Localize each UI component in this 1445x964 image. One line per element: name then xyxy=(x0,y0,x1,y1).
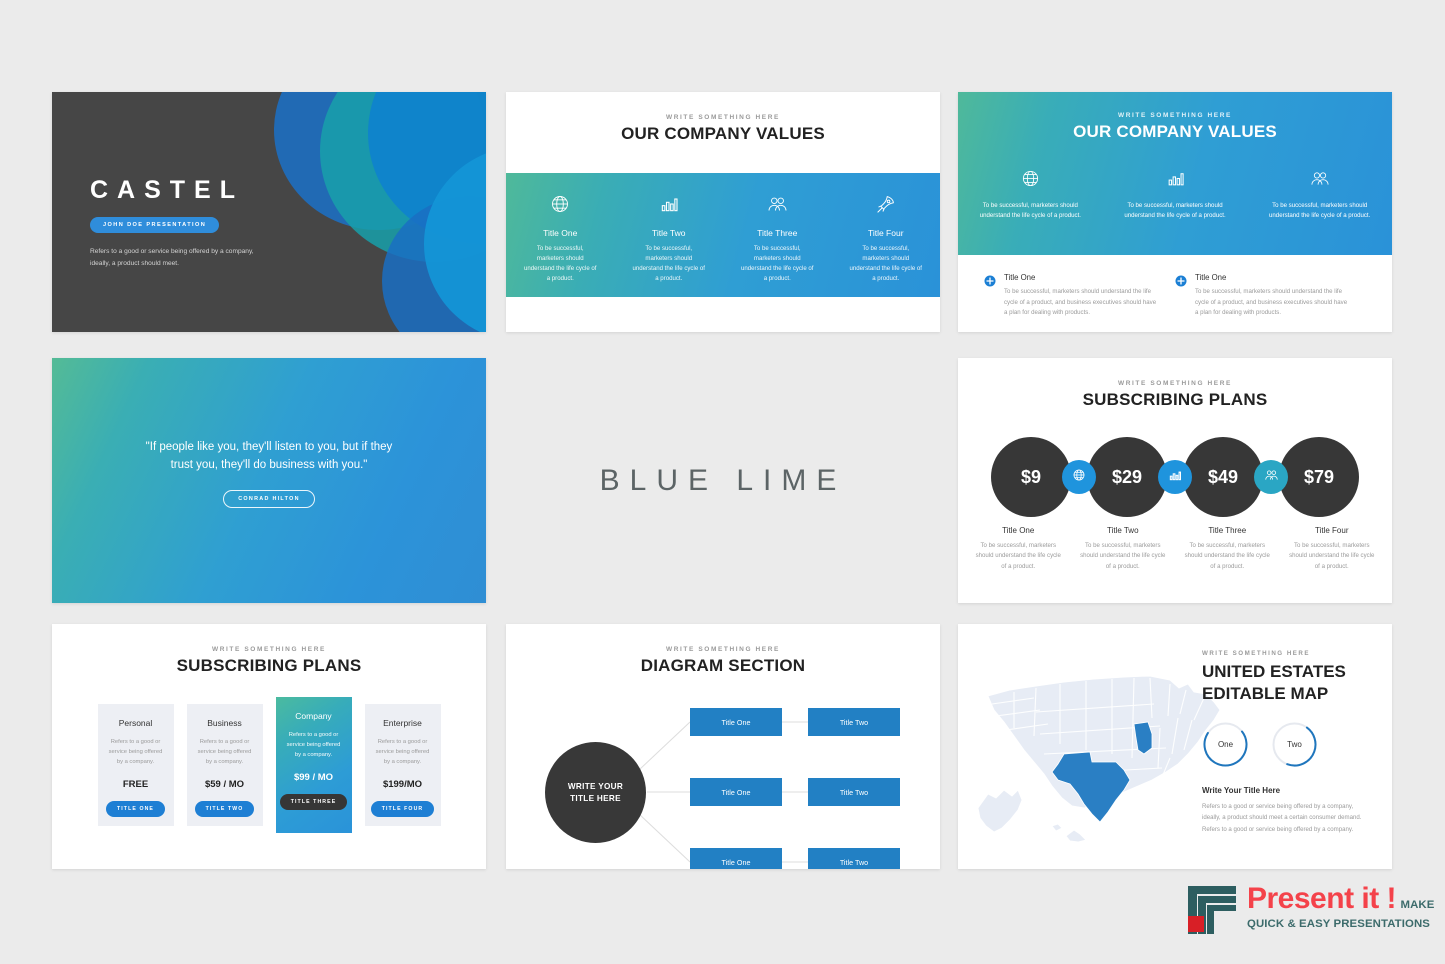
plan-price: $199/MO xyxy=(365,779,441,790)
plan-label-3: Title Three To be successful, marketers … xyxy=(1175,526,1280,572)
diagram-box-row3-left[interactable]: Title One xyxy=(690,848,782,869)
value-desc: To be successful, marketers should under… xyxy=(1261,201,1378,222)
bar-chart-icon xyxy=(615,191,724,217)
connector-users[interactable] xyxy=(1254,460,1288,494)
plan-title: Title Three xyxy=(1183,526,1272,535)
logo-name: Present it ! xyxy=(1247,882,1396,915)
slide-quote[interactable]: "If people like you, they'll listen to y… xyxy=(52,358,486,603)
plan-desc: Refers to a good or service being offere… xyxy=(276,730,352,760)
globe-icon xyxy=(1072,468,1086,487)
value-desc: To be successful, marketers should under… xyxy=(972,201,1089,222)
page-title: SUBSCRIBING PLANS xyxy=(958,390,1392,410)
slide-title[interactable]: CASTEL JOHN DOE PRESENTATION Refers to a… xyxy=(52,92,486,332)
plan-title: Title One xyxy=(974,526,1063,535)
users-icon xyxy=(1261,166,1378,190)
bar-chart-icon xyxy=(1117,166,1234,190)
plans-circle-labels: Title One To be successful, marketers sh… xyxy=(958,526,1392,572)
diagram-box-row2-right[interactable]: Title Two xyxy=(808,778,900,806)
page-title: SUBSCRIBING PLANS xyxy=(52,656,486,676)
title-slide-content: CASTEL JOHN DOE PRESENTATION Refers to a… xyxy=(90,176,262,269)
eyebrow-text: WRITE SOMETHING HERE xyxy=(1202,650,1372,657)
users-icon xyxy=(1264,468,1279,487)
diagram-box-row1-left[interactable]: Title One xyxy=(690,708,782,736)
presenter-badge[interactable]: JOHN DOE PRESENTATION xyxy=(90,217,219,233)
value-column-1[interactable]: To be successful, marketers should under… xyxy=(958,166,1103,222)
plan-price: $59 / MO xyxy=(187,779,263,790)
value-desc: To be successful, marketers should under… xyxy=(615,244,724,284)
plan-price: $99 / MO xyxy=(276,772,352,783)
plan-cta-button[interactable]: TITLE THREE xyxy=(280,794,348,810)
value-column-1[interactable]: Title One To be successful, marketers sh… xyxy=(506,173,615,297)
plus-circle-icon xyxy=(1175,274,1187,332)
plan-title: Title Two xyxy=(1079,526,1168,535)
plan-name: Company xyxy=(276,711,352,721)
stat-ring-label: One xyxy=(1218,740,1233,749)
diagram-box-row3-right[interactable]: Title Two xyxy=(808,848,900,869)
item-title: Title One xyxy=(1004,273,1159,282)
stat-ring-two[interactable]: Two xyxy=(1271,721,1318,768)
rocket-icon xyxy=(832,191,941,217)
slide-brand-word[interactable]: BLUE LIME xyxy=(506,358,940,603)
map-title-line-1: UNITED ESTATES xyxy=(1202,661,1372,683)
item-desc: To be successful, marketers should under… xyxy=(1004,287,1159,319)
value-column-3[interactable]: Title Three To be successful, marketers … xyxy=(723,173,832,297)
logo-text: Present it ! MAKE QUICK & EASY PRESENTAT… xyxy=(1247,884,1445,932)
slide-subscribing-plans-cards[interactable]: WRITE SOMETHING HERE SUBSCRIBING PLANS P… xyxy=(52,624,486,869)
us-map[interactable] xyxy=(974,658,1224,843)
slide-us-map[interactable]: WRITE SOMETHING HERE UNITED ESTATES EDIT… xyxy=(958,624,1392,869)
brand-name: CASTEL xyxy=(90,176,262,205)
users-icon xyxy=(723,191,832,217)
plan-desc: To be successful, marketers should under… xyxy=(1183,541,1272,572)
value-desc: To be successful, marketers should under… xyxy=(506,244,615,284)
stat-ring-label: Two xyxy=(1287,740,1302,749)
plans-circles-header: WRITE SOMETHING HERE SUBSCRIBING PLANS xyxy=(958,358,1392,410)
brand-wordmark: BLUE LIME xyxy=(600,464,847,498)
connector-globe[interactable] xyxy=(1062,460,1096,494)
plan-desc: Refers to a good or service being offere… xyxy=(98,737,174,767)
stat-ring-one[interactable]: One xyxy=(1202,721,1249,768)
map-stat-rings: One Two xyxy=(1202,721,1372,768)
eyebrow-text: WRITE SOMETHING HERE xyxy=(506,114,940,121)
us-map-svg xyxy=(974,658,1224,843)
plan-desc: Refers to a good or service being offere… xyxy=(187,737,263,767)
plus-circle-icon xyxy=(984,274,996,332)
hub-line-2: TITLE HERE xyxy=(568,793,623,805)
quote-author-badge[interactable]: CONRAD HILTON xyxy=(223,490,315,508)
pricing-card-personal[interactable]: Personal Refers to a good or service bei… xyxy=(98,704,174,826)
eyebrow-text: WRITE SOMETHING HERE xyxy=(958,380,1392,387)
slide-gallery: CASTEL JOHN DOE PRESENTATION Refers to a… xyxy=(0,0,1445,964)
values-split-item[interactable]: Title One To be successful, marketers sh… xyxy=(1175,273,1366,332)
page-title: UNITED ESTATES EDITABLE MAP xyxy=(1202,661,1372,705)
plan-name: Business xyxy=(187,718,263,728)
plan-title: Title Four xyxy=(1288,526,1377,535)
quote-text: "If people like you, they'll listen to y… xyxy=(144,439,394,475)
map-subtitle: Write Your Title Here xyxy=(1202,786,1372,795)
pricing-card-enterprise[interactable]: Enterprise Refers to a good or service b… xyxy=(365,704,441,826)
slide-diagram-section[interactable]: WRITE SOMETHING HERE DIAGRAM SECTION WRI… xyxy=(506,624,940,869)
plan-price-circle-2[interactable]: $29 xyxy=(1087,437,1167,517)
map-title-line-2: EDITABLE MAP xyxy=(1202,683,1372,705)
plan-desc: To be successful, marketers should under… xyxy=(974,541,1063,572)
plan-desc: To be successful, marketers should under… xyxy=(1288,541,1377,572)
diagram-header: WRITE SOMETHING HERE DIAGRAM SECTION xyxy=(506,624,940,676)
item-title: Title One xyxy=(1195,273,1350,282)
plan-price: FREE xyxy=(98,779,174,790)
value-desc: To be successful, marketers should under… xyxy=(723,244,832,284)
globe-icon xyxy=(506,191,615,217)
value-desc: To be successful, marketers should under… xyxy=(832,244,941,284)
plan-label-2: Title Two To be successful, marketers sh… xyxy=(1071,526,1176,572)
connector-bar-chart[interactable] xyxy=(1158,460,1192,494)
plan-name: Enterprise xyxy=(365,718,441,728)
plan-cta-button[interactable]: TITLE TWO xyxy=(195,801,255,817)
plan-desc: Refers to a good or service being offere… xyxy=(365,737,441,767)
eyebrow-text: WRITE SOMETHING HERE xyxy=(506,646,940,653)
pricing-card-company[interactable]: Company Refers to a good or service bein… xyxy=(276,697,352,833)
pricing-card-business[interactable]: Business Refers to a good or service bei… xyxy=(187,704,263,826)
logo-mark-icon xyxy=(1186,884,1238,936)
plan-label-1: Title One To be successful, marketers sh… xyxy=(966,526,1071,572)
item-desc: To be successful, marketers should under… xyxy=(1195,287,1350,319)
diagram-box-row2-left[interactable]: Title One xyxy=(690,778,782,806)
present-it-logo[interactable]: Present it ! MAKE QUICK & EASY PRESENTAT… xyxy=(1186,884,1445,936)
plans-circle-row: $9 $29 $49 xyxy=(958,434,1392,520)
value-column-2[interactable]: Title Two To be successful, marketers sh… xyxy=(615,173,724,297)
diagram-hub[interactable]: WRITE YOUR TITLE HERE xyxy=(545,742,646,843)
value-title: Title Three xyxy=(723,228,832,238)
value-title: Title Four xyxy=(832,228,941,238)
plan-price-circle-4[interactable]: $79 xyxy=(1279,437,1359,517)
plan-name: Personal xyxy=(98,718,174,728)
slide-subscribing-plans-circles[interactable]: WRITE SOMETHING HERE SUBSCRIBING PLANS $… xyxy=(958,358,1392,603)
page-title: OUR COMPANY VALUES xyxy=(506,124,940,144)
diagram-canvas: WRITE YOUR TITLE HERE Title One Title Tw… xyxy=(506,692,940,869)
pricing-card-row: Personal Refers to a good or service bei… xyxy=(52,704,486,833)
plan-desc: To be successful, marketers should under… xyxy=(1079,541,1168,572)
diagram-box-row1-right[interactable]: Title Two xyxy=(808,708,900,736)
eyebrow-text: WRITE SOMETHING HERE xyxy=(958,112,1392,119)
bar-chart-icon xyxy=(1168,468,1182,487)
globe-icon xyxy=(972,166,1089,190)
title-description: Refers to a good or service being offere… xyxy=(90,246,262,269)
values-gradient-band: Title One To be successful, marketers sh… xyxy=(506,173,940,297)
values-band-header: WRITE SOMETHING HERE OUR COMPANY VALUES xyxy=(506,92,940,144)
plans-cards-header: WRITE SOMETHING HERE SUBSCRIBING PLANS xyxy=(52,624,486,676)
value-desc: To be successful, marketers should under… xyxy=(1117,201,1234,222)
hub-line-1: WRITE YOUR xyxy=(568,781,623,793)
value-title: Title Two xyxy=(615,228,724,238)
values-split-top: WRITE SOMETHING HERE OUR COMPANY VALUES … xyxy=(958,92,1392,255)
value-column-3[interactable]: To be successful, marketers should under… xyxy=(1247,166,1392,222)
plan-label-4: Title Four To be successful, marketers s… xyxy=(1280,526,1385,572)
eyebrow-text: WRITE SOMETHING HERE xyxy=(52,646,486,653)
plan-cta-button[interactable]: TITLE FOUR xyxy=(371,801,435,817)
page-title: OUR COMPANY VALUES xyxy=(958,122,1392,142)
slide-company-values-band[interactable]: WRITE SOMETHING HERE OUR COMPANY VALUES … xyxy=(506,92,940,332)
map-text-panel: WRITE SOMETHING HERE UNITED ESTATES EDIT… xyxy=(1202,650,1372,835)
slide-company-values-split[interactable]: WRITE SOMETHING HERE OUR COMPANY VALUES … xyxy=(958,92,1392,332)
page-title: DIAGRAM SECTION xyxy=(506,656,940,676)
value-column-4[interactable]: Title Four To be successful, marketers s… xyxy=(832,173,941,297)
plan-price-circle-3[interactable]: $49 xyxy=(1183,437,1263,517)
values-split-bottom: Title One To be successful, marketers sh… xyxy=(958,255,1392,332)
value-column-2[interactable]: To be successful, marketers should under… xyxy=(1103,166,1248,222)
plan-price-circle-1[interactable]: $9 xyxy=(991,437,1071,517)
plan-cta-button[interactable]: TITLE ONE xyxy=(106,801,165,817)
map-body-text: Refers to a good or service being offere… xyxy=(1202,801,1372,835)
values-split-columns: To be successful, marketers should under… xyxy=(958,166,1392,222)
values-split-item[interactable]: Title One To be successful, marketers sh… xyxy=(984,273,1175,332)
value-title: Title One xyxy=(506,228,615,238)
